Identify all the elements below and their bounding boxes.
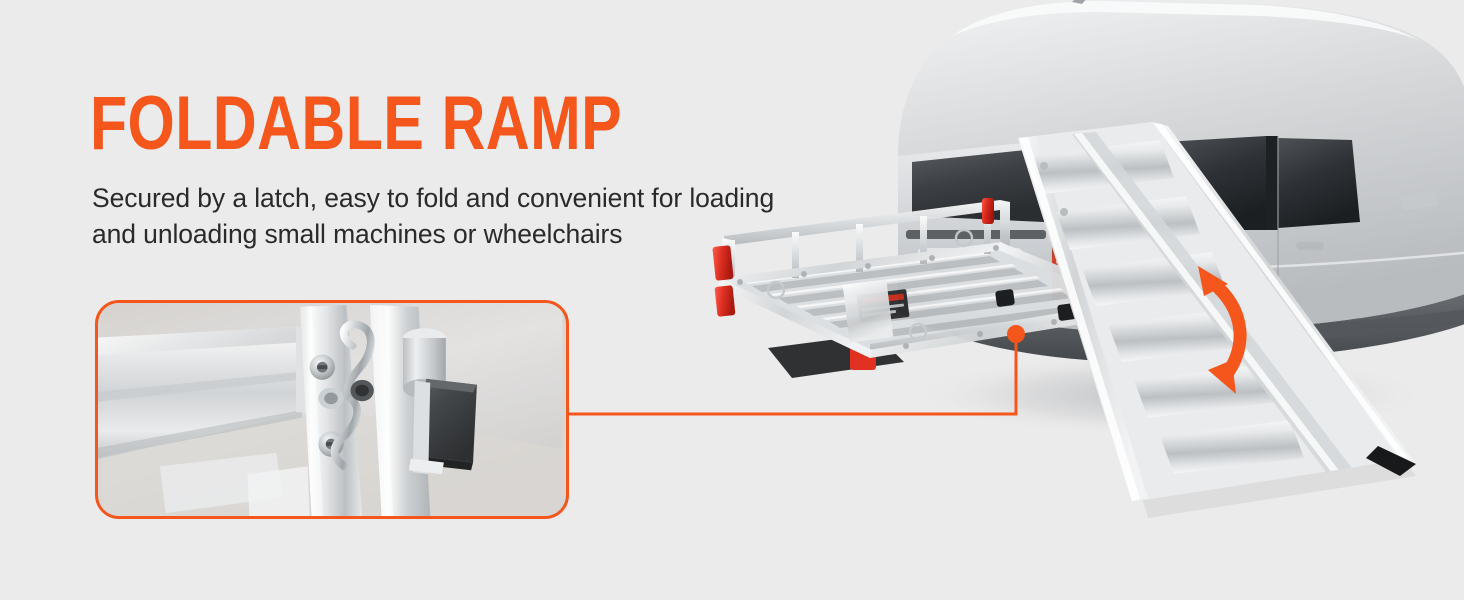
product-feature-banner: FOLDABLE RAMP Secured by a latch, easy t… — [0, 0, 1464, 600]
page-title: FOLDABLE RAMP — [90, 86, 622, 162]
latch-closeup-photo — [98, 303, 566, 516]
latch-closeup-callout — [95, 300, 569, 519]
feature-description: Secured by a latch, easy to fold and con… — [92, 180, 912, 252]
hero-product-photo — [700, 0, 1464, 600]
